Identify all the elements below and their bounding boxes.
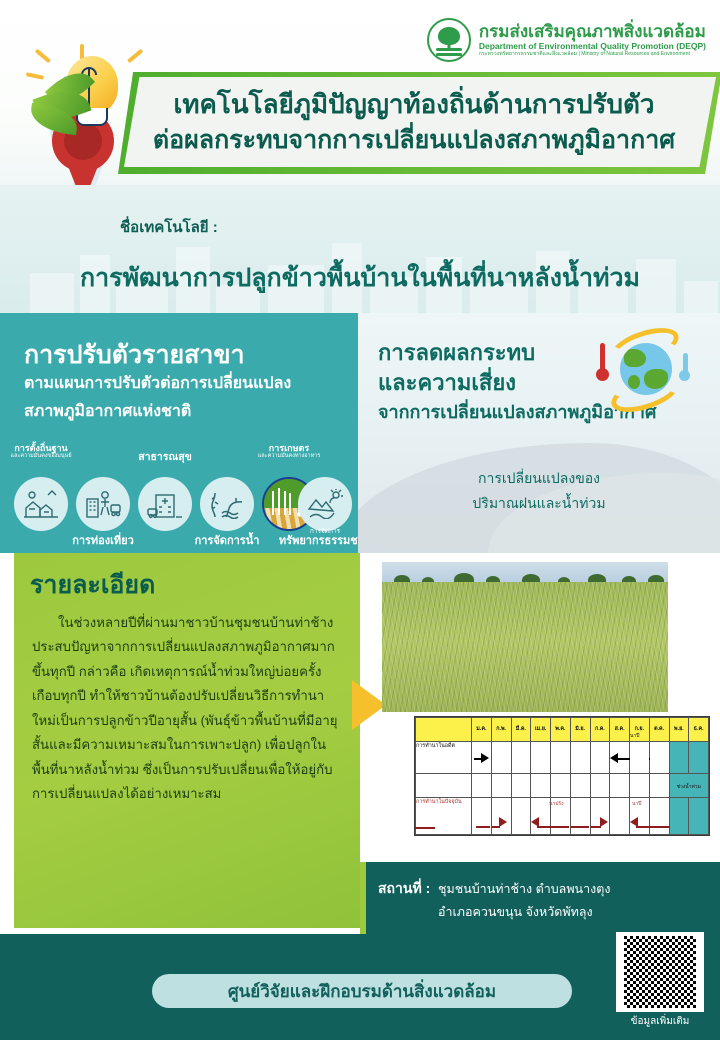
calendar-cell bbox=[531, 741, 551, 774]
calendar-cell bbox=[472, 798, 492, 835]
location-label: สถานที่ : bbox=[378, 878, 430, 900]
calendar-cell bbox=[531, 798, 551, 835]
month-header: ธ.ค. bbox=[689, 718, 709, 742]
flood-cell bbox=[669, 741, 689, 774]
month-header: ก.พ. bbox=[491, 718, 511, 742]
main-title-banner: เทคโนโลยีภูมิปัญญาท้องถิ่นด้านการปรับตัว… bbox=[118, 72, 720, 174]
flood-cell bbox=[689, 741, 709, 774]
sector-label-water-management: การจัดการน้ำ bbox=[186, 535, 268, 547]
water-icon bbox=[200, 477, 254, 531]
month-header: ต.ค. bbox=[649, 718, 669, 742]
tourism-icon bbox=[76, 477, 130, 531]
calendar-cell bbox=[472, 774, 492, 798]
research-center-name: ศูนย์วิจัยและฝึกอบรมด้านสิ่งแวดล้อม bbox=[152, 974, 572, 1008]
calendar-cell bbox=[491, 741, 511, 774]
rice-field-photo bbox=[382, 562, 668, 712]
sector-item-settlement[interactable]: การตั้งถิ่นฐาน และความมั่นคงของมนุษย์ bbox=[14, 477, 68, 531]
adaptation-heading: การปรับตัวรายสาขา bbox=[24, 335, 245, 375]
calendar-cell bbox=[610, 774, 630, 798]
sector-label-agriculture: การเกษตร และความมั่นคงทางอาหาร bbox=[246, 443, 332, 460]
month-header: พ.ย. bbox=[669, 718, 689, 742]
org-name-th: กรมส่งเสริมคุณภาพสิ่งแวดล้อม bbox=[479, 23, 706, 41]
annotation-present-1: นาปรัง bbox=[549, 800, 564, 808]
main-title-line1: เทคโนโลยีภูมิปัญญาท้องถิ่นด้านการปรับตัว bbox=[118, 84, 710, 125]
calendar-cell bbox=[630, 774, 650, 798]
calendar-cell bbox=[551, 774, 571, 798]
detail-body-text: ในช่วงหลายปีที่ผ่านมาชาวบ้านชุมชนบ้านท่า… bbox=[32, 611, 342, 806]
sector-icon-row: การตั้งถิ่นฐาน และความมั่นคงของมนุษย์ กา… bbox=[8, 443, 356, 549]
location-line1: ชุมชนบ้านท่าช้าง ตำบลพนางตุง bbox=[438, 879, 610, 899]
calendar-cell bbox=[590, 741, 610, 774]
technology-label: ชื่อเทคโนโลยี : bbox=[120, 215, 218, 239]
calendar-cell bbox=[551, 741, 571, 774]
flood-period-label-cell: ช่วงน้ำท่วม bbox=[669, 774, 709, 798]
calendar-cell bbox=[511, 741, 531, 774]
calendar-cell: นาปี bbox=[630, 741, 650, 774]
flood-cell bbox=[669, 798, 689, 835]
hospital-icon bbox=[138, 477, 192, 531]
month-header: มี.ค. bbox=[511, 718, 531, 742]
main-title-line2: ต่อผลกระทบจากการเปลี่ยนแปลงสภาพภูมิอากาศ bbox=[118, 120, 710, 160]
yellow-arrow-icon bbox=[352, 680, 386, 730]
table-corner-cell bbox=[416, 718, 472, 742]
calendar-cell bbox=[610, 741, 630, 774]
calendar-cell bbox=[610, 798, 630, 835]
table-row-present: การทำนาในปัจจุบัน นาปรัง bbox=[416, 798, 709, 835]
technology-name: การพัฒนาการปลูกข้าวพื้นบ้านในพื้นที่นาหล… bbox=[0, 258, 720, 298]
sector-label-tourism: การท่องเที่ยว bbox=[62, 535, 144, 547]
sector-item-tourism[interactable]: การท่องเที่ยว bbox=[76, 477, 130, 531]
table-row-past: การทำนาในอดีต นาปี bbox=[416, 741, 709, 774]
annotation-past: นาปี bbox=[630, 732, 639, 740]
calendar-cell bbox=[511, 774, 531, 798]
annotation-present-2: นาปี bbox=[632, 800, 641, 808]
calendar-cell bbox=[649, 774, 669, 798]
table-header-row: ม.ค. ก.พ. มี.ค. เม.ย. พ.ค. มิ.ย. ก.ค. ส.… bbox=[416, 718, 709, 742]
table-row-flood-label: ช่วงน้ำท่วม bbox=[416, 774, 709, 798]
month-header: มิ.ย. bbox=[570, 718, 590, 742]
calendar-cell bbox=[570, 741, 590, 774]
qr-code-box[interactable] bbox=[616, 932, 704, 1012]
org-ministry: กระทรวงทรัพยากรธรรมชาติและสิ่งแวดล้อม | … bbox=[479, 52, 706, 57]
location-line2: อำเภอควนขนุน จังหวัดพัทลุง bbox=[438, 902, 593, 922]
earth-globe-icon bbox=[620, 343, 672, 395]
nature-icon bbox=[298, 477, 352, 531]
sector-item-water-management[interactable]: การจัดการน้ำ bbox=[200, 477, 254, 531]
adaptation-sub1: ตามแผนการปรับตัวต่อการเปลี่ยนแปลง bbox=[24, 371, 291, 396]
thermometer-hot-icon bbox=[598, 343, 607, 381]
calendar-cell bbox=[511, 798, 531, 835]
month-header: พ.ค. bbox=[551, 718, 571, 742]
deqp-logo: กรมส่งเสริมคุณภาพสิ่งแวดล้อม Department … bbox=[427, 18, 706, 62]
sector-item-natural-resources[interactable]: การจัดการ ทรัพยากรธรรมชาติ bbox=[298, 477, 352, 531]
farming-calendar-table: ม.ค. ก.พ. มี.ค. เม.ย. พ.ค. มิ.ย. ก.ค. ส.… bbox=[414, 716, 710, 836]
sector-label-public-health: สาธารณสุข bbox=[124, 451, 206, 463]
impact-sub2: ปริมาณฝนและน้ำท่วม bbox=[358, 493, 720, 515]
detail-panel: รายละเอียด ในช่วงหลายปีที่ผ่านมาชาวบ้านช… bbox=[14, 553, 360, 928]
calendar-cell bbox=[531, 774, 551, 798]
qr-code-icon[interactable] bbox=[624, 936, 696, 1008]
impact-reduction-panel: การลดผลกระทบ และความเสี่ยง จากการเปลี่ยน… bbox=[358, 313, 720, 553]
qr-caption: ข้อมูลเพิ่มเติม bbox=[612, 1014, 708, 1029]
calendar-cell bbox=[491, 774, 511, 798]
calendar-cell: นาปี bbox=[630, 798, 650, 835]
sector-label-settlement: การตั้งถิ่นฐาน และความมั่นคงของมนุษย์ bbox=[4, 443, 78, 460]
thermometer-cold-icon bbox=[681, 353, 690, 381]
deqp-seal-icon bbox=[427, 18, 471, 62]
calendar-cell bbox=[491, 798, 511, 835]
detail-heading: รายละเอียด bbox=[30, 565, 155, 605]
row-label-past: การทำนาในอดีต bbox=[416, 741, 472, 774]
flood-period-label: ช่วงน้ำท่วม bbox=[670, 781, 709, 791]
impact-heading2: และความเสี่ยง bbox=[378, 365, 516, 400]
impact-sub1: การเปลี่ยนแปลงของ bbox=[358, 468, 720, 490]
month-header: เม.ย. bbox=[531, 718, 551, 742]
poster-root: กรมส่งเสริมคุณภาพสิ่งแวดล้อม Department … bbox=[0, 0, 720, 1040]
calendar-cell bbox=[570, 774, 590, 798]
location-bar: สถานที่ : ชุมชนบ้านท่าช้าง ตำบลพนางตุง อ… bbox=[360, 862, 720, 934]
calendar-cell bbox=[570, 798, 590, 835]
month-header: ก.ค. bbox=[590, 718, 610, 742]
org-name-en: Department of Environmental Quality Prom… bbox=[479, 42, 706, 51]
calendar-cell bbox=[416, 774, 472, 798]
calendar-cell bbox=[649, 741, 669, 774]
flood-cell bbox=[689, 798, 709, 835]
calendar-cell bbox=[590, 798, 610, 835]
month-header: ม.ค. bbox=[472, 718, 492, 742]
adaptation-sectors-panel: การปรับตัวรายสาขา ตามแผนการปรับตัวต่อการ… bbox=[0, 313, 358, 553]
village-icon bbox=[14, 477, 68, 531]
calendar-cell: นาปรัง bbox=[551, 798, 571, 835]
sector-item-public-health[interactable]: สาธารณสุข bbox=[138, 477, 192, 531]
calendar-cell bbox=[472, 741, 492, 774]
calendar-cell bbox=[590, 774, 610, 798]
globe-thermometer-icon bbox=[594, 331, 690, 411]
month-header: ส.ค. bbox=[610, 718, 630, 742]
adaptation-sub2: สภาพภูมิอากาศแห่งชาติ bbox=[24, 399, 191, 424]
calendar-cell bbox=[649, 798, 669, 835]
